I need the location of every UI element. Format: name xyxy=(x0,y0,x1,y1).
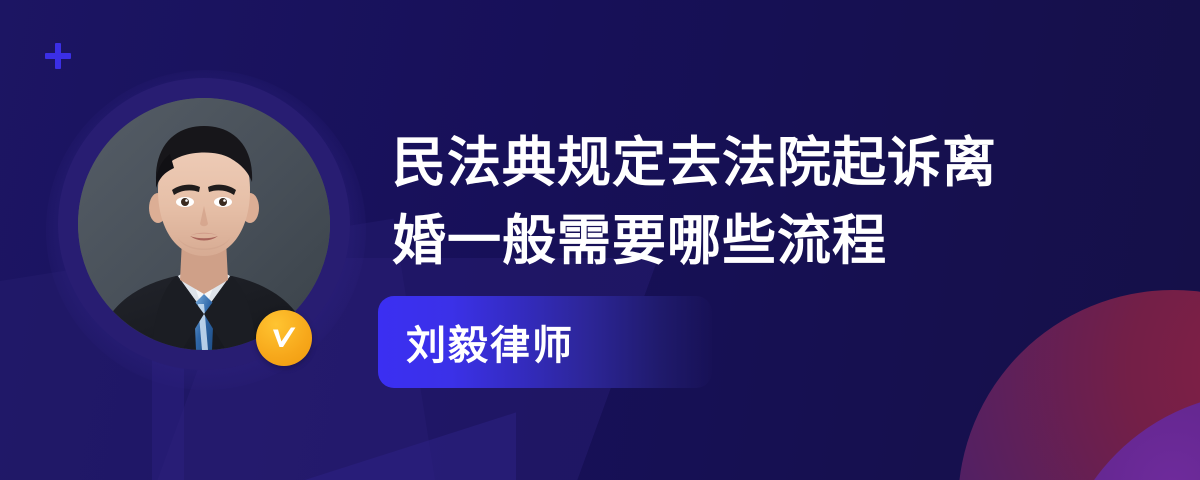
verified-check-icon xyxy=(256,310,312,366)
page-title: 民法典规定去法院起诉离 婚一般需要哪些流程 xyxy=(392,124,1092,280)
plus-icon xyxy=(44,42,72,70)
lawyer-name-label: 刘毅律师 xyxy=(378,313,574,371)
lawyer-article-banner: 民法典规定去法院起诉离 婚一般需要哪些流程 刘毅律师 xyxy=(0,0,1200,480)
avatar xyxy=(58,78,350,370)
lawyer-name-badge[interactable]: 刘毅律师 xyxy=(378,296,712,388)
